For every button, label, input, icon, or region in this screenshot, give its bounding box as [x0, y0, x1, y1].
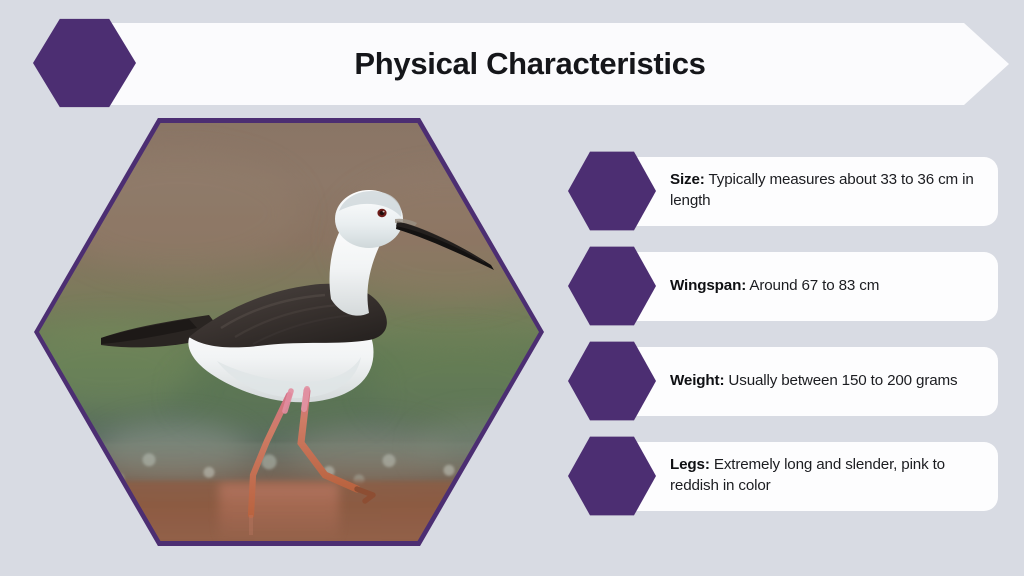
- page-title: Physical Characteristics: [150, 23, 910, 105]
- facts-list: Size: Typically measures about 33 to 36 …: [568, 150, 998, 530]
- fact-value: Around 67 to 83 cm: [746, 277, 879, 294]
- list-item: Legs: Extremely long and slender, pink t…: [568, 435, 998, 517]
- list-item: Wingspan: Around 67 to 83 cm: [568, 245, 998, 327]
- hero-image-clip: [39, 123, 539, 541]
- fact-text: Wingspan: Around 67 to 83 cm: [670, 245, 988, 327]
- fact-label: Weight:: [670, 372, 724, 389]
- fact-text: Legs: Extremely long and slender, pink t…: [670, 435, 988, 517]
- fact-value: Extremely long and slender, pink to redd…: [670, 456, 945, 494]
- hero-image-hexagon: [34, 118, 544, 546]
- fact-value: Typically measures about 33 to 36 cm in …: [670, 171, 974, 209]
- list-item: Size: Typically measures about 33 to 36 …: [568, 150, 998, 232]
- fact-label: Legs:: [670, 456, 710, 473]
- fact-label: Size:: [670, 171, 705, 188]
- fact-text: Weight: Usually between 150 to 200 grams: [670, 340, 988, 422]
- fact-value: Usually between 150 to 200 grams: [724, 372, 957, 389]
- bird-illustration: [39, 123, 539, 541]
- slide-root: Physical Characteristics: [0, 0, 1024, 576]
- bird-photo: [39, 123, 539, 541]
- fact-label: Wingspan:: [670, 277, 746, 294]
- list-item: Weight: Usually between 150 to 200 grams: [568, 340, 998, 422]
- fact-text: Size: Typically measures about 33 to 36 …: [670, 150, 988, 232]
